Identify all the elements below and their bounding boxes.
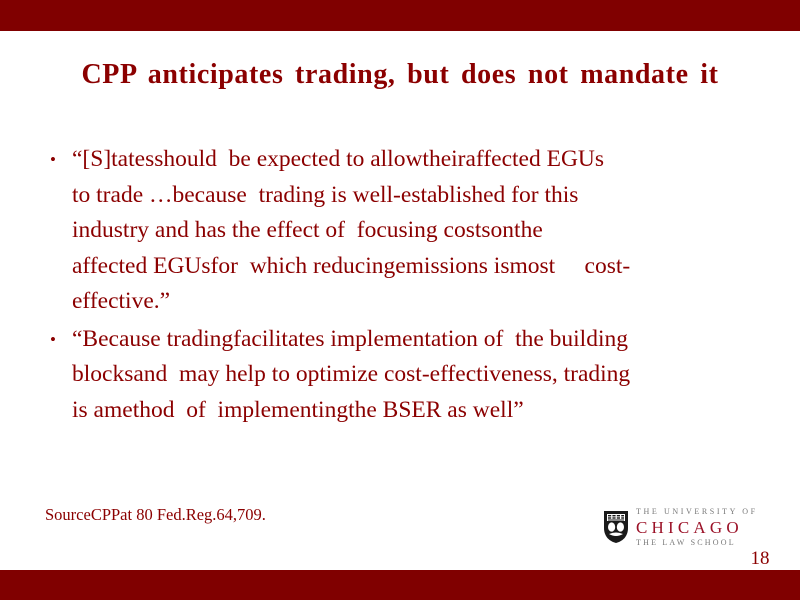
- logo-line-chicago: CHICAGO: [636, 519, 783, 536]
- bullet-point-icon: •: [44, 322, 72, 358]
- bullet-line: effective.”: [72, 284, 759, 320]
- slide-title: CPP anticipates trading, but does not ma…: [40, 58, 760, 92]
- page-number: 18: [740, 548, 780, 570]
- bullet-point-icon: •: [44, 142, 72, 178]
- bullet-item: • “[S]tatesshould be expected to allowth…: [44, 142, 759, 320]
- bullet-line: blocksand may help to optimize cost-effe…: [72, 357, 759, 393]
- bullet-text: “[S]tatesshould be expected to allowthei…: [72, 142, 759, 320]
- bullet-line: “[S]tatesshould be expected to allowthei…: [72, 142, 759, 178]
- bottom-accent-bar: [0, 570, 800, 600]
- bullet-text: “Because tradingfacilitates implementati…: [72, 322, 759, 429]
- university-logo: THE UNIVERSITY OF CHICAGO THE LAW SCHOOL: [603, 503, 783, 551]
- bullet-line: to trade …because trading is well-establ…: [72, 178, 759, 214]
- top-accent-bar: [0, 0, 800, 31]
- bullet-line: “Because tradingfacilitates implementati…: [72, 322, 759, 358]
- bullet-line: is amethod of implementingthe BSER as we…: [72, 393, 759, 429]
- bullet-line: affected EGUsfor which reducingemissions…: [72, 249, 759, 285]
- slide-body: • “[S]tatesshould be expected to allowth…: [44, 142, 759, 428]
- university-crest-shield-icon: [603, 510, 629, 544]
- slide: CPP anticipates trading, but does not ma…: [0, 0, 800, 600]
- logo-line-university: THE UNIVERSITY OF: [636, 508, 783, 516]
- university-logo-text: THE UNIVERSITY OF CHICAGO THE LAW SCHOOL: [636, 508, 783, 547]
- logo-line-law-school: THE LAW SCHOOL: [636, 539, 783, 547]
- bullet-item: • “Because tradingfacilitates implementa…: [44, 322, 759, 429]
- source-citation: SourceCPPat 80 Fed.Reg.64,709.: [45, 505, 266, 525]
- bullet-line: industry and has the effect of focusing …: [72, 213, 759, 249]
